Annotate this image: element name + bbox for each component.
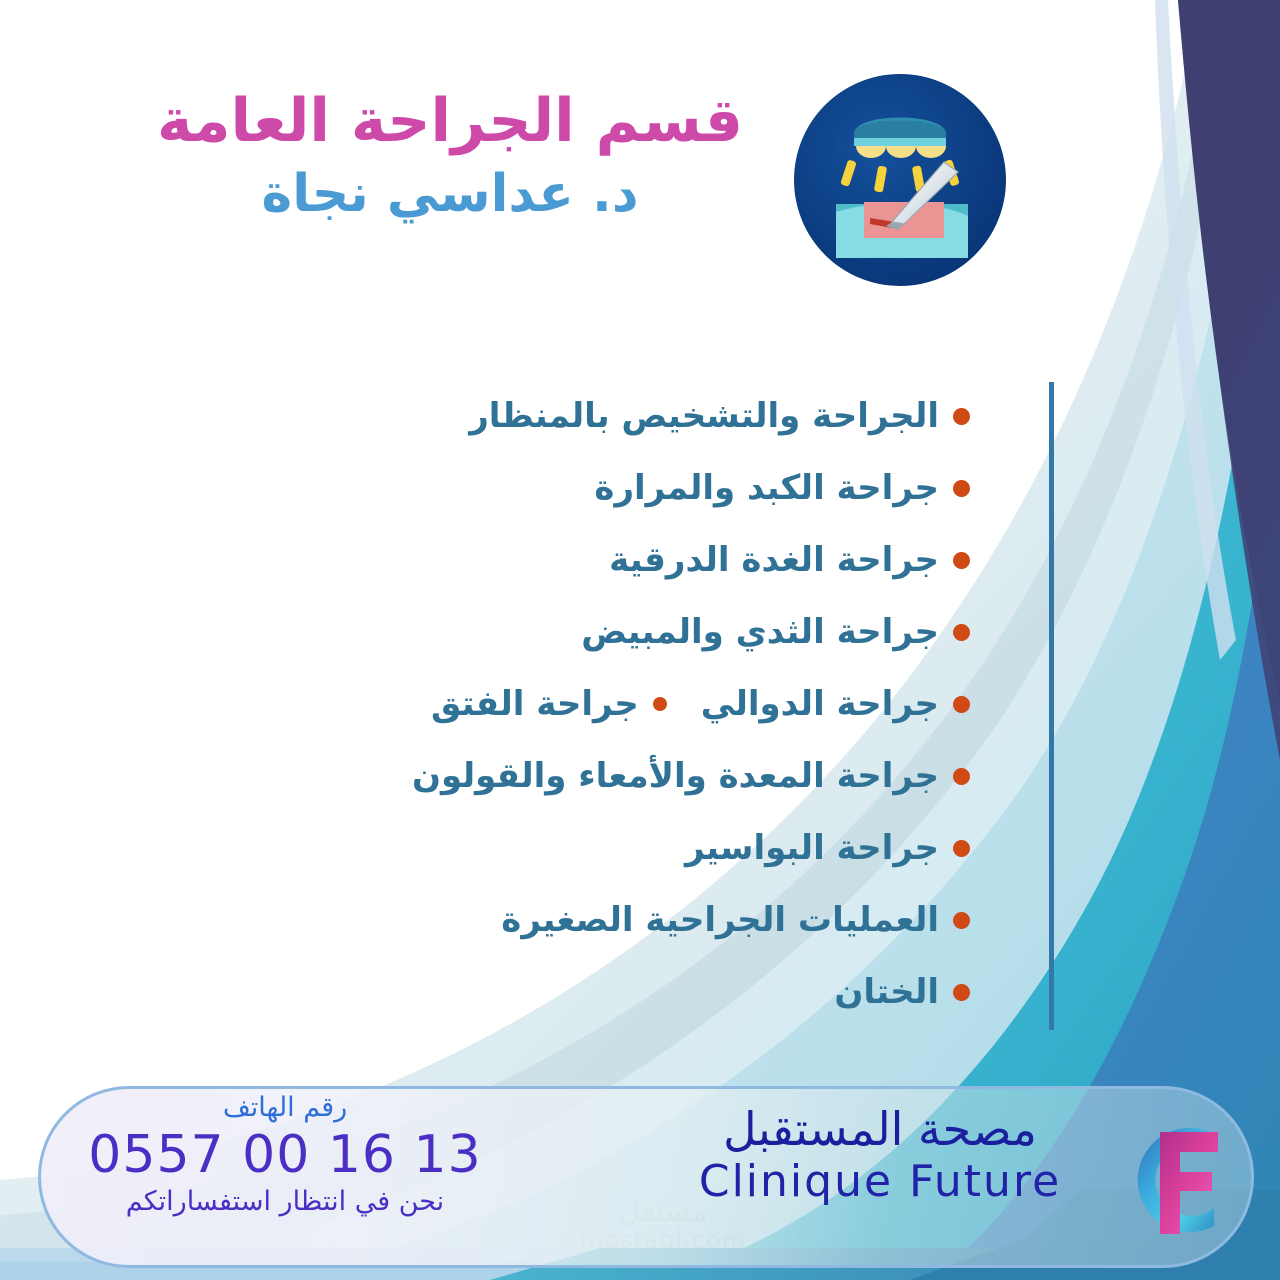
service-label: جراحة البواسير [685, 831, 939, 865]
service-label: جراحة الكبد والمرارة [594, 471, 939, 505]
service-label-secondary: جراحة الفتق [431, 687, 639, 721]
header-block: قسم الجراحة العامة د. عداسي نجاة [140, 88, 760, 225]
phone-number[interactable]: 0557 00 16 13 [70, 1126, 500, 1184]
services-list: الجراحة والتشخيص بالمنظار جراحة الكبد وا… [232, 380, 980, 1028]
phone-label: رقم الهاتف [70, 1092, 500, 1124]
service-sub-item: جراحة الفتق [431, 687, 667, 721]
contact-note: نحن في انتظار استفساراتكم [70, 1185, 500, 1219]
list-item: جراحة البواسير [232, 812, 980, 884]
bullet-icon [953, 912, 970, 929]
bullet-icon [953, 984, 970, 1001]
surgery-scalpel-icon [792, 72, 1008, 288]
service-label: جراحة الغدة الدرقية [609, 543, 939, 577]
swoosh-navy-2 [1178, 0, 1280, 760]
service-label: العمليات الجراحية الصغيرة [501, 903, 939, 937]
list-item: العمليات الجراحية الصغيرة [232, 884, 980, 956]
brand-name-ar: مصحة المستقبل [690, 1104, 1070, 1156]
brand-block: مصحة المستقبل Clinique Future [690, 1104, 1070, 1206]
bullet-icon [953, 552, 970, 569]
bullet-icon [953, 696, 970, 713]
service-label: جراحة المعدة والأمعاء والقولون [412, 759, 939, 793]
list-item: الجراحة والتشخيص بالمنظار [232, 380, 980, 452]
vertical-divider [1049, 382, 1054, 1030]
cf-monogram-logo [1096, 1098, 1260, 1262]
brand-name-fr: Clinique Future [690, 1158, 1070, 1206]
service-label: جراحة الثدي والمبيض [581, 615, 939, 649]
bullet-icon [953, 408, 970, 425]
service-label: جراحة الدوالي [701, 687, 939, 721]
list-item: جراحة الكبد والمرارة [232, 452, 980, 524]
list-item: جراحة الدوالي جراحة الفتق [232, 668, 980, 740]
list-item: الختان [232, 956, 980, 1028]
bullet-icon [653, 697, 667, 711]
poster-canvas: قسم الجراحة العامة د. عداسي نجاة [0, 0, 1280, 1280]
bullet-icon [953, 768, 970, 785]
bullet-icon [953, 624, 970, 641]
bullet-icon [953, 840, 970, 857]
service-label: الجراحة والتشخيص بالمنظار [469, 399, 939, 433]
list-item: جراحة المعدة والأمعاء والقولون [232, 740, 980, 812]
service-label: الختان [834, 975, 939, 1009]
bullet-icon [953, 480, 970, 497]
list-item: جراحة الثدي والمبيض [232, 596, 980, 668]
list-item: جراحة الغدة الدرقية [232, 524, 980, 596]
contact-block: رقم الهاتف 0557 00 16 13 نحن في انتظار ا… [70, 1092, 500, 1218]
page-title: قسم الجراحة العامة [140, 88, 760, 155]
swoosh-sliver [1155, 0, 1236, 660]
swoosh-navy [1178, 0, 1280, 700]
doctor-name: د. عداسي نجاة [140, 165, 760, 225]
